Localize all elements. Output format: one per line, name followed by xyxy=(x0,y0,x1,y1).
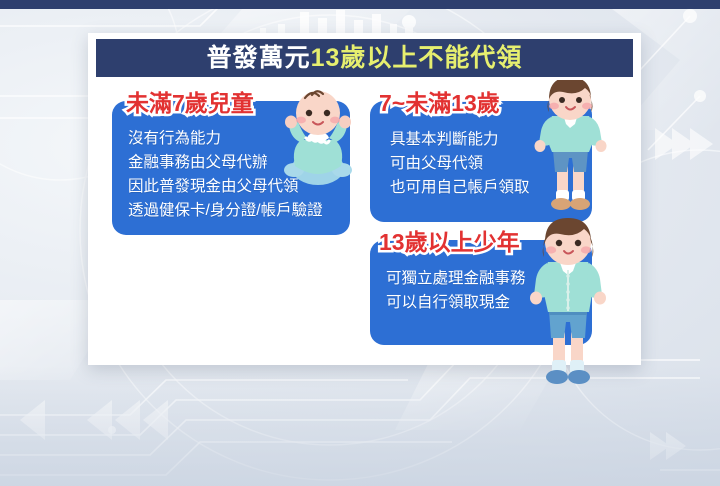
baby-illustration xyxy=(281,82,355,190)
title-bar: 普發萬元13歲以上不能代領 xyxy=(96,39,633,77)
title-highlight: 13歲以上不能代領 xyxy=(311,44,523,72)
background-top-strip xyxy=(0,0,720,9)
teen-illustration xyxy=(521,218,613,390)
card-7-to-13-lines: 具基本判斷能力 可由父母代領 也可用自己帳戶領取 xyxy=(390,128,530,200)
list-item: 可獨立處理金融事務 xyxy=(386,267,526,291)
boy-illustration xyxy=(527,80,613,214)
list-item: 也可用自己帳戶領取 xyxy=(390,176,530,200)
title-prefix: 普發萬元 xyxy=(207,44,311,72)
list-item: 具基本判斷能力 xyxy=(390,128,530,152)
card-over-13-heading: 13歲以上少年 xyxy=(379,231,520,254)
list-item: 可由父母代領 xyxy=(390,152,530,176)
card-over-13-lines: 可獨立處理金融事務 可以自行領取現金 xyxy=(386,267,526,315)
page-title: 普發萬元13歲以上不能代領 xyxy=(207,46,523,71)
infographic-stage: 普發萬元13歲以上不能代領 未滿7歲兒童 沒有行為能力 金融事務由父母代辦 因此… xyxy=(0,0,720,486)
card-under-7-heading: 未滿7歲兒童 xyxy=(126,92,254,115)
card-7-to-13-heading: 7~未滿13歲 xyxy=(379,92,500,115)
list-item: 透過健保卡/身分證/帳戶驗證 xyxy=(128,199,323,223)
list-item: 可以自行領取現金 xyxy=(386,291,526,315)
